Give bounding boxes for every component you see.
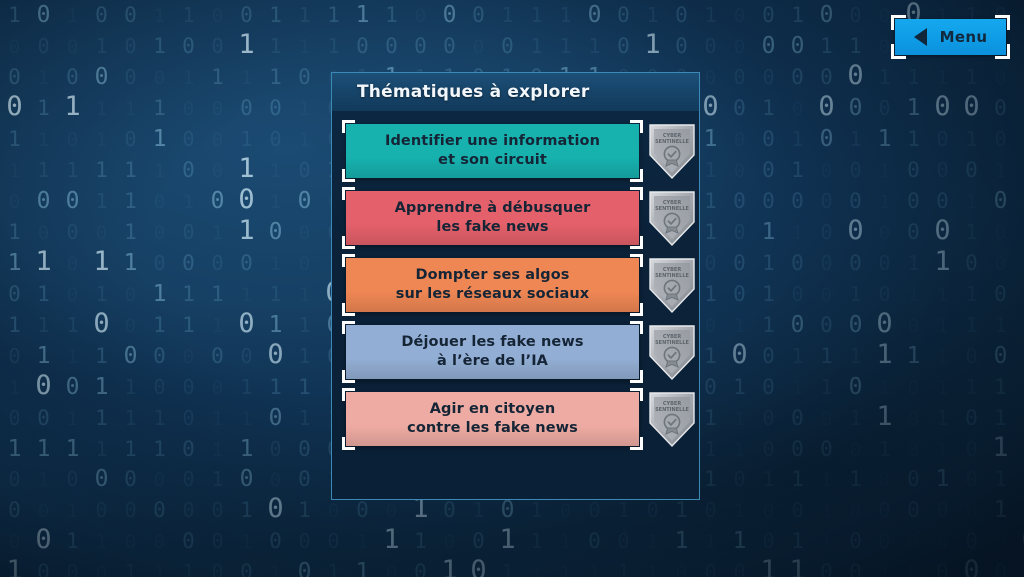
page-title: Thématiques à explorer	[357, 82, 589, 102]
menu-button-label: Menu	[940, 28, 988, 46]
theme-button-bracket	[630, 388, 643, 401]
panel-bracket-top-right	[686, 68, 704, 86]
theme-button-bracket	[342, 388, 355, 401]
svg-text:SENTINELLE: SENTINELLE	[655, 139, 689, 145]
theme-button-3[interactable]: Dompter ses algossur les réseaux sociaux	[346, 258, 639, 312]
theme-row: Déjouer les fake newsà l’ère de l’IACYBE…	[332, 325, 699, 379]
theme-button-bracket	[630, 303, 643, 316]
svg-text:SENTINELLE: SENTINELLE	[655, 340, 689, 346]
menu-bracket-bottom-right	[995, 44, 1010, 59]
theme-button-line1: Dompter ses algos	[415, 266, 569, 285]
theme-row: Identifier une informationet son circuit…	[332, 124, 699, 178]
theme-button-bracket	[630, 321, 643, 334]
theme-button-bracket	[630, 437, 643, 450]
theme-button-line2: sur les réseaux sociaux	[396, 285, 590, 304]
panel-header: Thématiques à explorer	[332, 73, 699, 111]
menu-bracket-top-right	[995, 15, 1010, 30]
theme-button-bracket	[342, 303, 355, 316]
theme-button-bracket	[342, 321, 355, 334]
triangle-left-icon	[914, 28, 927, 46]
theme-button-line2: à l’ère de l’IA	[437, 352, 548, 371]
theme-button-bracket	[630, 254, 643, 267]
theme-button-bracket	[342, 437, 355, 450]
theme-button-bracket	[342, 169, 355, 182]
themes-panel: Thématiques à explorer Identifier une in…	[331, 72, 700, 500]
theme-button-line1: Déjouer les fake news	[401, 333, 583, 352]
theme-button-bracket	[342, 370, 355, 383]
theme-row: Apprendre à débusquerles fake newsCYBERS…	[332, 191, 699, 245]
theme-button-bracket	[630, 370, 643, 383]
award-shield-icon: CYBERSENTINELLE	[646, 255, 698, 315]
game-screen: 101001100111110001110010100100001100 000…	[0, 0, 1024, 577]
award-shield-icon: CYBERSENTINELLE	[646, 121, 698, 181]
theme-button-bracket	[342, 187, 355, 200]
theme-button-line1: Identifier une information	[385, 132, 600, 151]
menu-button[interactable]: Menu	[895, 19, 1006, 55]
theme-button-bracket	[630, 236, 643, 249]
theme-button-1[interactable]: Identifier une informationet son circuit	[346, 124, 639, 178]
svg-text:SENTINELLE: SENTINELLE	[655, 407, 689, 413]
theme-button-line1: Agir en citoyen	[430, 400, 556, 419]
panel-bracket-top-left	[327, 68, 345, 86]
theme-row: Dompter ses algossur les réseaux sociaux…	[332, 258, 699, 312]
award-shield-icon: CYBERSENTINELLE	[646, 188, 698, 248]
panel-bracket-bottom-right	[686, 486, 704, 504]
theme-button-bracket	[630, 169, 643, 182]
theme-button-5[interactable]: Agir en citoyencontre les fake news	[346, 392, 639, 446]
theme-button-bracket	[630, 187, 643, 200]
theme-button-line2: contre les fake news	[407, 419, 578, 438]
themes-list: Identifier une informationet son circuit…	[332, 111, 699, 499]
panel-bracket-bottom-left	[327, 486, 345, 504]
theme-button-bracket	[342, 120, 355, 133]
theme-button-4[interactable]: Déjouer les fake newsà l’ère de l’IA	[346, 325, 639, 379]
svg-text:SENTINELLE: SENTINELLE	[655, 206, 689, 212]
theme-button-line2: et son circuit	[438, 151, 547, 170]
theme-button-bracket	[342, 236, 355, 249]
svg-text:SENTINELLE: SENTINELLE	[655, 273, 689, 279]
menu-bracket-bottom-left	[891, 44, 906, 59]
theme-button-bracket	[630, 120, 643, 133]
award-shield-icon: CYBERSENTINELLE	[646, 322, 698, 382]
theme-button-2[interactable]: Apprendre à débusquerles fake news	[346, 191, 639, 245]
theme-button-line1: Apprendre à débusquer	[395, 199, 591, 218]
theme-button-bracket	[342, 254, 355, 267]
theme-button-line2: les fake news	[436, 218, 548, 237]
theme-row: Agir en citoyencontre les fake newsCYBER…	[332, 392, 699, 446]
menu-bracket-top-left	[891, 15, 906, 30]
award-shield-icon: CYBERSENTINELLE	[646, 389, 698, 449]
